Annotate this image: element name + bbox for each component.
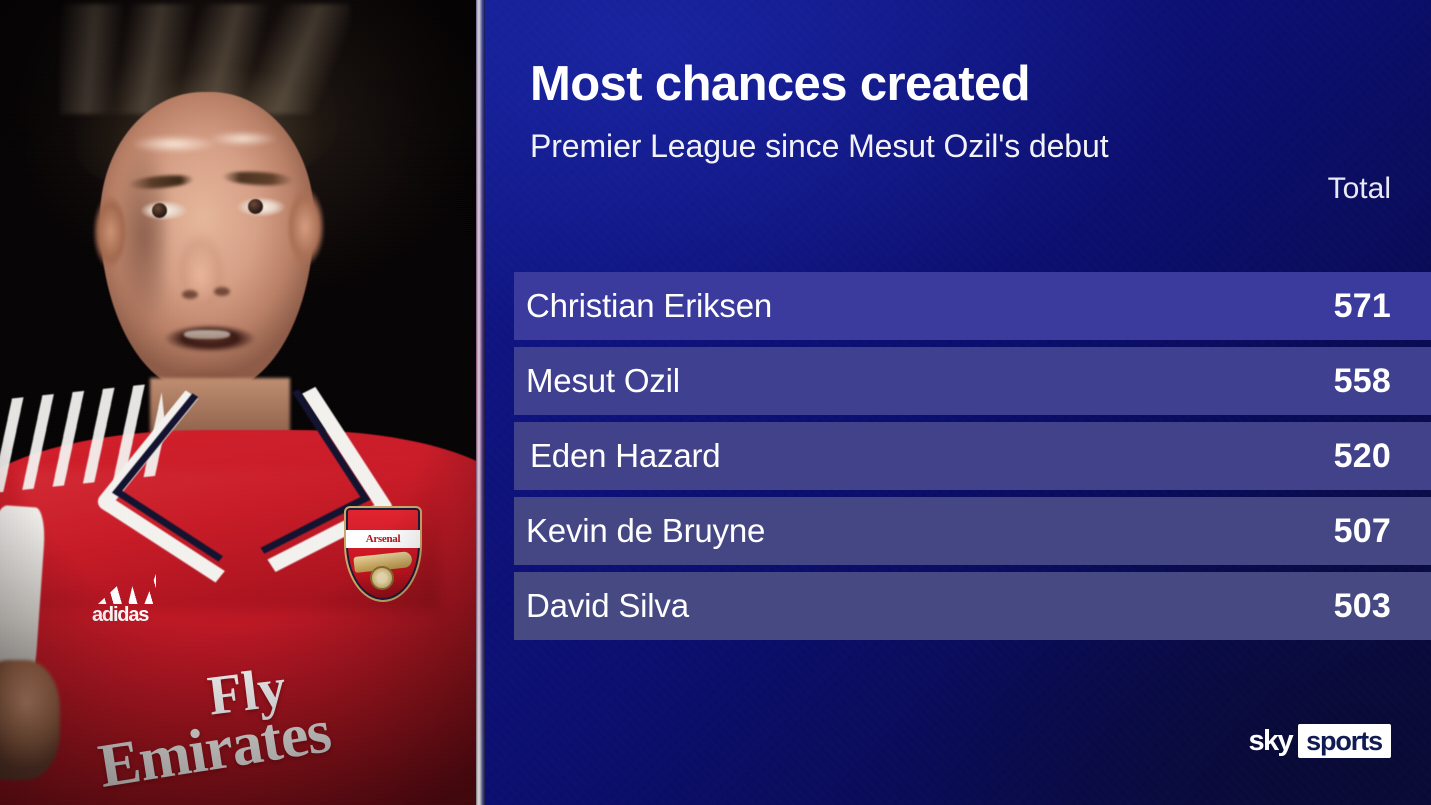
graphic-root: Arsenal adidas Fly Emirates Most chances… [0, 0, 1431, 805]
adidas-wordmark: adidas [92, 604, 174, 627]
table-row[interactable]: Mesut Ozil558 [514, 347, 1431, 415]
pupil-left [152, 203, 167, 218]
teeth [184, 330, 230, 339]
ear-left [92, 196, 126, 268]
row-player-name: Eden Hazard [530, 437, 720, 475]
row-player-name: Mesut Ozil [526, 362, 680, 400]
ear-right [288, 188, 326, 266]
row-player-name: David Silva [526, 587, 689, 625]
mouth [164, 324, 256, 354]
player-photo: Arsenal adidas Fly Emirates [0, 0, 476, 805]
row-total-value: 503 [1334, 587, 1391, 626]
table-row[interactable]: David Silva503 [514, 572, 1431, 640]
column-header-total: Total [1328, 172, 1391, 206]
sky-sports-logo: sky sports [1248, 724, 1391, 758]
table-row[interactable]: Christian Eriksen571 [514, 272, 1431, 340]
table-row[interactable]: Kevin de Bruyne507 [514, 497, 1431, 565]
row-player-name: Kevin de Bruyne [526, 512, 765, 550]
arm [0, 660, 60, 780]
pupil-right [248, 199, 263, 214]
cannon-wheel-icon [370, 566, 394, 590]
stats-table: Christian Eriksen571Mesut Ozil558Eden Ha… [514, 272, 1431, 647]
page-subtitle: Premier League since Mesut Ozil's debut [530, 128, 1109, 165]
row-total-value: 558 [1334, 362, 1391, 401]
nostril-right [214, 287, 230, 296]
logo-sports-text: sports [1298, 724, 1391, 758]
stats-panel: Most chances created Premier League sinc… [485, 0, 1431, 805]
forehead-highlight [128, 122, 292, 166]
row-player-name: Christian Eriksen [526, 287, 772, 325]
table-row[interactable]: Eden Hazard520 [514, 422, 1431, 490]
nostril-left [182, 290, 198, 299]
row-total-value: 571 [1334, 287, 1391, 326]
crest-label: Arsenal [346, 530, 420, 548]
panel-divider-tint [476, 0, 485, 805]
page-title: Most chances created [530, 56, 1030, 112]
row-total-value: 520 [1334, 437, 1391, 476]
row-total-value: 507 [1334, 512, 1391, 551]
logo-sky-text: sky [1248, 724, 1298, 758]
